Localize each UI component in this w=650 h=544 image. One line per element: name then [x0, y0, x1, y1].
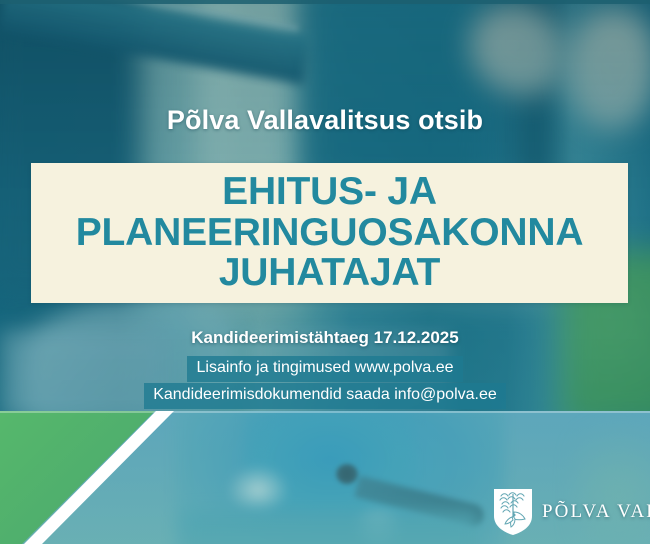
logo-wordmark: PÕLVA VALD [542, 501, 650, 523]
info-email-text: Kandideerimisdokumendid saada info@polva… [144, 383, 506, 409]
band-divider-line [0, 411, 650, 413]
info-row-website: Lisainfo ja tingimused www.polva.ee [0, 356, 650, 382]
headline-box: EHITUS- JA PLANEERINGUOSAKONNA JUHATAJAT [31, 163, 628, 303]
top-edge-strip [0, 0, 650, 4]
shield-crest-icon [493, 488, 533, 536]
info-lines: Lisainfo ja tingimused www.polva.ee Kand… [0, 356, 650, 409]
info-website-text: Lisainfo ja tingimused www.polva.ee [187, 356, 462, 382]
headline-text: EHITUS- JA PLANEERINGUOSAKONNA JUHATAJAT [70, 172, 590, 294]
info-row-email: Kandideerimisdokumendid saada info@polva… [0, 383, 650, 409]
application-deadline: Kandideerimistähtaeg 17.12.2025 [0, 328, 650, 348]
polva-vald-logo: PÕLVA VALD [493, 488, 650, 536]
job-advert-poster: Põlva Vallavalitsus otsib EHITUS- JA PLA… [0, 0, 650, 544]
headline-line-2: PLANEERINGUOSAKONNA [76, 213, 584, 254]
headline-line-1: EHITUS- JA [76, 172, 584, 213]
poster-kicker: Põlva Vallavalitsus otsib [0, 105, 650, 136]
headline-line-3: JUHATAJAT [76, 253, 584, 294]
